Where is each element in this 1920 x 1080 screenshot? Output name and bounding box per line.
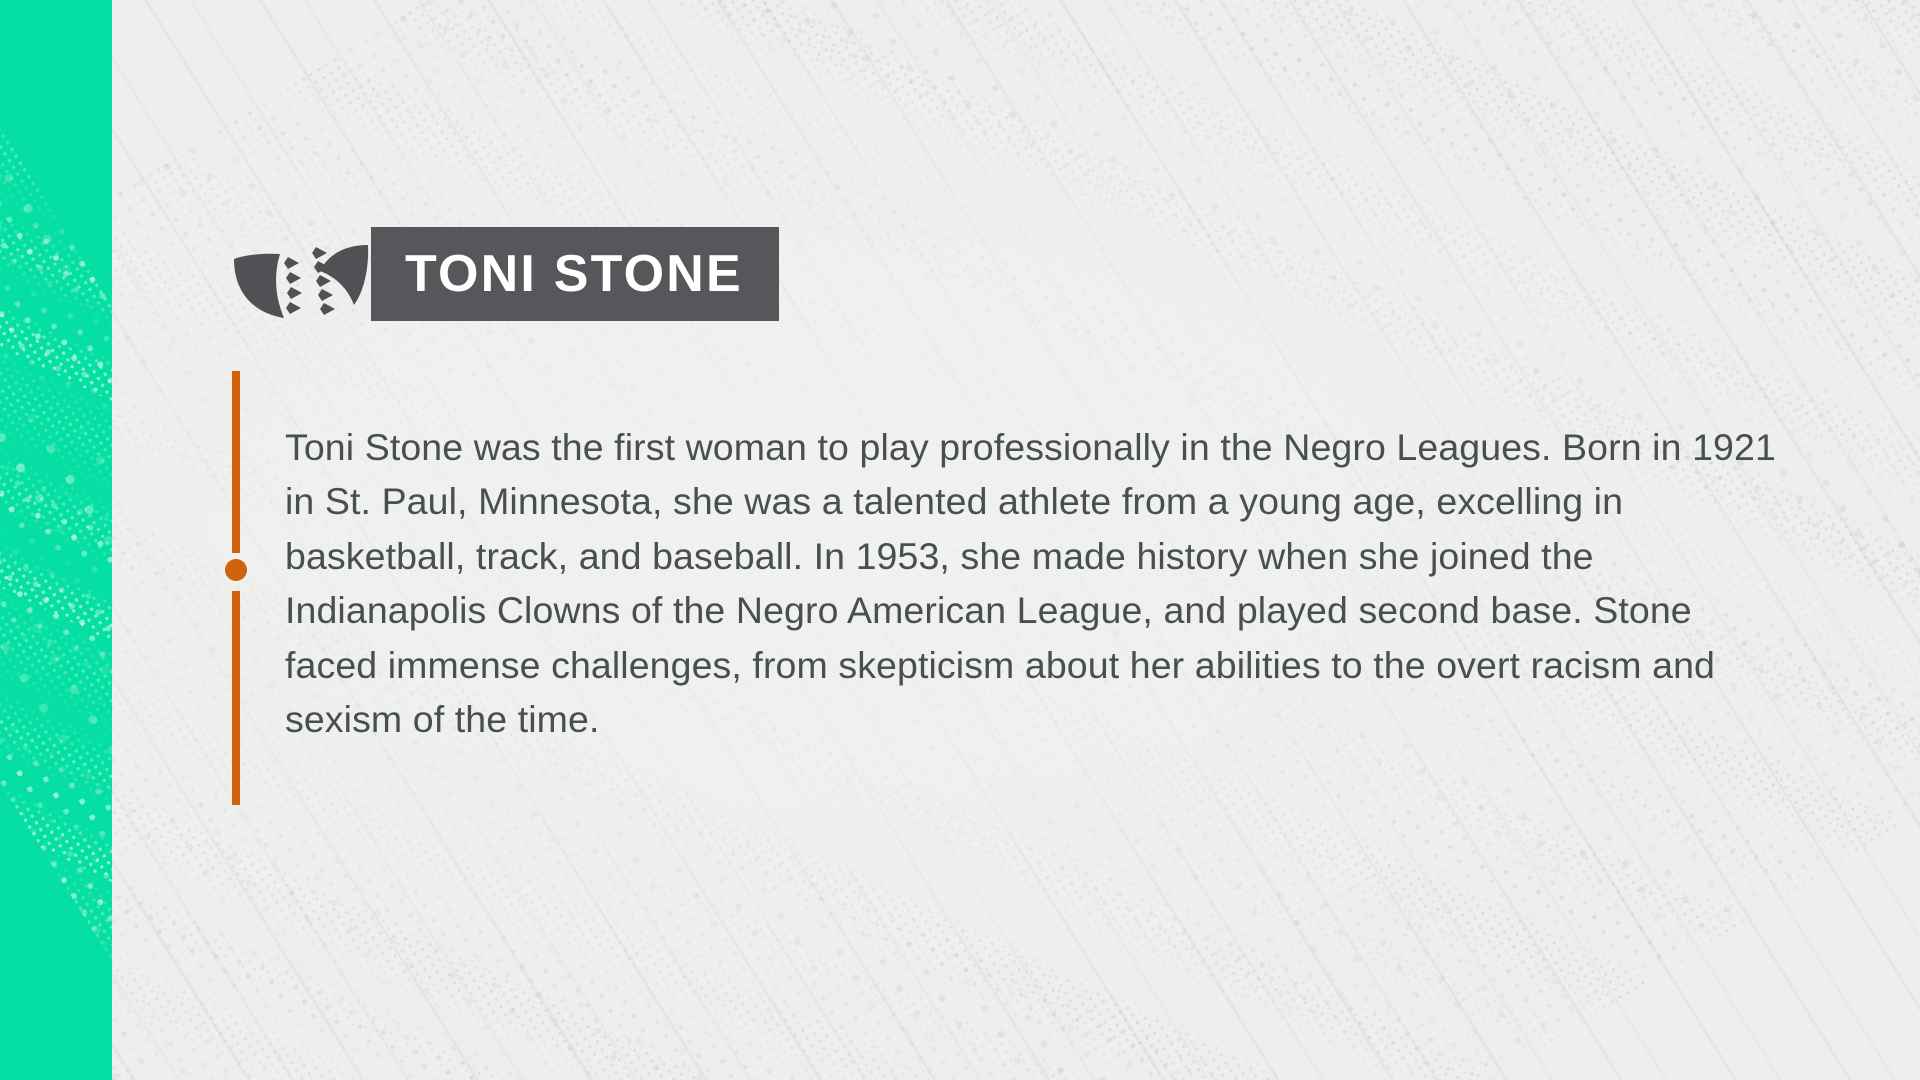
orange-accent-rule [232, 371, 240, 805]
accent-rule-dot [225, 559, 247, 581]
accent-rule-top-segment [232, 371, 240, 553]
slide-canvas: TONI STONE Toni Stone was the first woma… [0, 0, 1920, 1080]
title-badge: TONI STONE [371, 227, 779, 321]
sidebar-halftone-coarse [0, 0, 112, 1080]
accent-rule-bottom-segment [232, 591, 240, 805]
baseball-logo-icon [232, 241, 370, 319]
slide-header: TONI STONE [232, 227, 779, 321]
left-accent-sidebar [0, 0, 112, 1080]
page-title: TONI STONE [405, 248, 743, 300]
body-paragraph: Toni Stone was the first woman to play p… [285, 420, 1785, 747]
